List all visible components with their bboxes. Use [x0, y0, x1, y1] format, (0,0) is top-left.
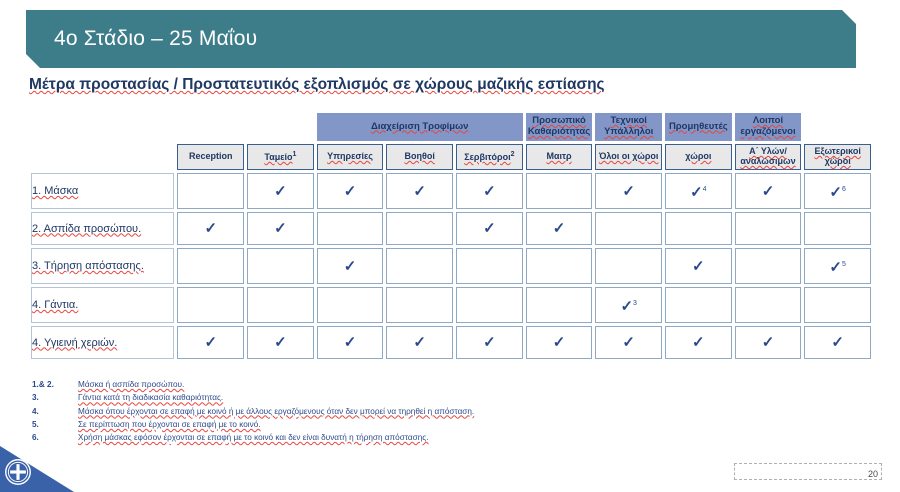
cell-r1-c7[interactable]: [665, 212, 732, 245]
row-label-0: 1. Μάσκα: [31, 173, 174, 209]
cell-r2-c3[interactable]: [386, 248, 453, 284]
checkmark-icon: ✓: [622, 176, 635, 207]
group-header-1: Διαχείριση Τροφίμων: [317, 113, 523, 141]
checkmark-icon: ✓: [344, 327, 357, 358]
checkmark-icon: ✓: [762, 327, 775, 358]
checkmark-icon: ✓5: [829, 249, 845, 283]
cell-r0-c1[interactable]: ✓: [247, 173, 314, 209]
cell-r1-c2[interactable]: [317, 212, 384, 245]
cell-r3-c3[interactable]: [386, 287, 453, 323]
cell-r0-c6[interactable]: ✓: [595, 173, 662, 209]
cell-r4-c7[interactable]: ✓: [665, 326, 732, 359]
cell-r3-c2[interactable]: [317, 287, 384, 323]
checkmark-icon: ✓: [204, 327, 217, 358]
footnote-text: Μάσκα ή ασπίδα προσώπου.: [78, 378, 184, 391]
footnote-number: 4.: [32, 405, 78, 418]
cell-r0-c9[interactable]: ✓6: [804, 173, 871, 209]
cell-r4-c1[interactable]: ✓: [247, 326, 314, 359]
cell-r1-c1[interactable]: ✓: [247, 212, 314, 245]
footnote-text: Χρήση μάσκας εφόσον έρχονται σε επαφή με…: [78, 431, 428, 444]
cell-r4-c8[interactable]: ✓: [735, 326, 802, 359]
checkmark-icon: ✓: [413, 327, 426, 358]
column-header-7: χώροι: [665, 144, 732, 170]
footnote-text: Γάντια κατά τη διαδικασία καθαριότητας.: [78, 391, 223, 404]
cell-r0-c0[interactable]: [177, 173, 244, 209]
footnote-0: 1.& 2.Μάσκα ή ασπίδα προσώπου.: [32, 378, 652, 391]
table-row: 3. Τήρηση απόστασης.✓✓✓5: [31, 248, 871, 284]
footnotes-list: 1.& 2.Μάσκα ή ασπίδα προσώπου.3.Γάντια κ…: [32, 378, 652, 444]
checkmark-icon: ✓: [344, 251, 357, 282]
banner-title: 4ο Στάδιο – 25 Μαΐου: [26, 27, 257, 51]
cell-r3-c8[interactable]: [735, 287, 802, 323]
group-header-3: Τεχνικοί Υπάλληλοι: [595, 113, 662, 141]
matrix-body: 1. Μάσκα✓✓✓✓✓✓4✓✓62. Ασπίδα προσώπου.✓✓✓…: [31, 173, 871, 359]
column-header-1: Ταμείο1: [247, 144, 314, 170]
cell-r1-c4[interactable]: ✓: [456, 212, 523, 245]
column-header-corner: [31, 144, 174, 170]
checkmark-icon: ✓: [553, 327, 566, 358]
footnote-4: 6.Χρήση μάσκας εφόσον έρχονται σε επαφή …: [32, 431, 652, 444]
protection-measures-table: Διαχείριση ΤροφίμωνΠροσωπικό Καθαριότητα…: [28, 110, 874, 362]
checkmark-icon: ✓3: [620, 288, 636, 322]
checkmark-icon: ✓: [692, 251, 705, 282]
cell-r2-c4[interactable]: [456, 248, 523, 284]
column-header-9: Εξωτερικοί χώροι: [804, 144, 871, 170]
row-label-3: 4. Γάντια.: [31, 287, 174, 323]
cell-r1-c0[interactable]: ✓: [177, 212, 244, 245]
group-header-row: Διαχείριση ΤροφίμωνΠροσωπικό Καθαριότητα…: [31, 113, 871, 141]
checkmark-icon: ✓: [274, 176, 287, 207]
column-header-8: Α΄ Υλών/ αναλώσιμων: [735, 144, 802, 170]
page-number: 20: [868, 469, 878, 479]
matrix-grid: Διαχείριση ΤροφίμωνΠροσωπικό Καθαριότητα…: [28, 110, 874, 362]
footnote-text: Μάσκα όπου έρχονται σε επαφή με κοινό ή …: [78, 405, 474, 418]
table-row: 2. Ασπίδα προσώπου.✓✓✓✓: [31, 212, 871, 245]
cell-r0-c5[interactable]: [526, 173, 593, 209]
checkmark-icon: ✓: [483, 176, 496, 207]
footnote-3: 5.Σε περίπτωση που έρχονται σε επαφή με …: [32, 418, 652, 431]
cell-r3-c6[interactable]: ✓3: [595, 287, 662, 323]
footnote-number: 5.: [32, 418, 78, 431]
cell-r1-c3[interactable]: [386, 212, 453, 245]
cell-r2-c7[interactable]: ✓: [665, 248, 732, 284]
table-row: 4. Υγιεινή χεριών.✓✓✓✓✓✓✓✓✓✓: [31, 326, 871, 359]
checkmark-icon: ✓4: [690, 174, 706, 208]
cell-r1-c9[interactable]: [804, 212, 871, 245]
cell-r2-c1[interactable]: [247, 248, 314, 284]
cell-r0-c2[interactable]: ✓: [317, 173, 384, 209]
cell-r2-c6[interactable]: [595, 248, 662, 284]
page-number-placeholder[interactable]: [734, 463, 882, 480]
cell-r0-c7[interactable]: ✓4: [665, 173, 732, 209]
crest-icon: [4, 458, 32, 486]
column-header-0: Reception: [177, 144, 244, 170]
cell-r1-c8[interactable]: [735, 212, 802, 245]
group-header-spacer: [31, 113, 314, 141]
cell-r2-c5[interactable]: [526, 248, 593, 284]
group-header-2: Προσωπικό Καθαριότητας: [526, 113, 593, 141]
cell-r4-c6[interactable]: ✓: [595, 326, 662, 359]
cell-r4-c4[interactable]: ✓: [456, 326, 523, 359]
cell-r2-c8[interactable]: [735, 248, 802, 284]
cell-r3-c4[interactable]: [456, 287, 523, 323]
cell-r2-c9[interactable]: ✓5: [804, 248, 871, 284]
cell-r3-c1[interactable]: [247, 287, 314, 323]
checkmark-icon: ✓: [692, 327, 705, 358]
column-header-4: Σερβιτόροι2: [456, 144, 523, 170]
checkmark-icon: ✓: [622, 327, 635, 358]
row-label-1: 2. Ασπίδα προσώπου.: [31, 212, 174, 245]
footnote-2: 4.Μάσκα όπου έρχονται σε επαφή με κοινό …: [32, 405, 652, 418]
checkmark-icon: ✓: [204, 213, 217, 244]
cell-r2-c0[interactable]: [177, 248, 244, 284]
column-header-5: Μαιτρ: [526, 144, 593, 170]
column-header-6: Όλοι οι χώροι: [595, 144, 662, 170]
greek-government-emblem: [0, 446, 74, 492]
cell-r3-c5[interactable]: [526, 287, 593, 323]
cell-r4-c2[interactable]: ✓: [317, 326, 384, 359]
cell-r1-c6[interactable]: [595, 212, 662, 245]
group-header-4: Προμηθευτές: [665, 113, 732, 141]
cell-r3-c7[interactable]: [665, 287, 732, 323]
cell-r4-c3[interactable]: ✓: [386, 326, 453, 359]
footnote-number: 1.& 2.: [32, 378, 78, 391]
column-header-2: Υπηρεσίες: [317, 144, 384, 170]
column-header-row: ReceptionΤαμείο1ΥπηρεσίεςΒοηθοίΣερβιτόρο…: [31, 144, 871, 170]
cell-r3-c9[interactable]: [804, 287, 871, 323]
checkmark-icon: ✓: [274, 327, 287, 358]
checkmark-icon: ✓: [344, 176, 357, 207]
cell-r4-c5[interactable]: ✓: [526, 326, 593, 359]
checkmark-icon: ✓: [413, 176, 426, 207]
table-row: 1. Μάσκα✓✓✓✓✓✓4✓✓6: [31, 173, 871, 209]
cell-r0-c8[interactable]: ✓: [735, 173, 802, 209]
checkmark-icon: ✓: [483, 327, 496, 358]
group-header-5: Λοιποί εργαζόμενοι: [735, 113, 802, 141]
table-row: 4. Γάντια.✓3: [31, 287, 871, 323]
cell-r0-c3[interactable]: ✓: [386, 173, 453, 209]
row-label-4: 4. Υγιεινή χεριών.: [31, 326, 174, 359]
footnote-number: 3.: [32, 391, 78, 404]
column-header-3: Βοηθοί: [386, 144, 453, 170]
row-label-2: 3. Τήρηση απόστασης.: [31, 248, 174, 284]
checkmark-icon: ✓: [274, 213, 287, 244]
checkmark-icon: ✓6: [829, 174, 845, 208]
cell-r1-c5[interactable]: ✓: [526, 212, 593, 245]
cell-r4-c9[interactable]: ✓: [804, 326, 871, 359]
footnote-1: 3.Γάντια κατά τη διαδικασία καθαριότητας…: [32, 391, 652, 404]
footnote-text: Σε περίπτωση που έρχονται σε επαφή με το…: [78, 418, 261, 431]
cell-r4-c0[interactable]: ✓: [177, 326, 244, 359]
footnote-number: 6.: [32, 431, 78, 444]
checkmark-icon: ✓: [483, 213, 496, 244]
cell-r2-c2[interactable]: ✓: [317, 248, 384, 284]
checkmark-icon: ✓: [831, 327, 844, 358]
cell-r3-c0[interactable]: [177, 287, 244, 323]
cell-r0-c4[interactable]: ✓: [456, 173, 523, 209]
page-subtitle: Μέτρα προστασίας / Προστατευτικός εξοπλι…: [29, 76, 605, 94]
title-banner: 4ο Στάδιο – 25 Μαΐου: [26, 10, 856, 68]
checkmark-icon: ✓: [762, 176, 775, 207]
checkmark-icon: ✓: [553, 213, 566, 244]
